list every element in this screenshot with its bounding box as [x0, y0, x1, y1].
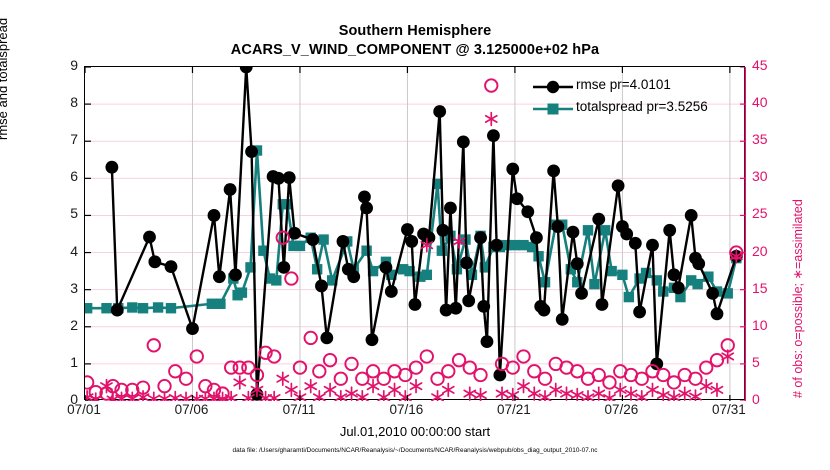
right-tick-0: 0 [752, 391, 782, 407]
right-tick-35: 35 [752, 131, 782, 147]
left-tick-4: 4 [52, 243, 78, 259]
x-tick-07-21: 07/21 [497, 402, 531, 417]
legend-marker-totalspread [531, 98, 575, 120]
left-tick-5: 5 [52, 205, 78, 221]
x-axis-label: Jul.01,2010 00:00:00 start [0, 424, 830, 439]
x-axis-ticks: 07/0107/0607/1107/1607/2107/2607/31 [84, 402, 745, 424]
page-title: Southern Hemisphere ACARS_V_WIND_COMPONE… [0, 22, 830, 60]
x-tick-07-01: 07/01 [67, 402, 101, 417]
title-line-1: Southern Hemisphere [0, 22, 830, 41]
right-axis-ticks: 051015202530354045 [752, 66, 784, 400]
left-tick-3: 3 [52, 280, 78, 296]
right-tick-10: 10 [752, 317, 782, 333]
right-tick-45: 45 [752, 57, 782, 73]
x-tick-07-06: 07/06 [175, 402, 209, 417]
x-tick-07-11: 07/11 [283, 402, 316, 417]
x-tick-07-31: 07/31 [712, 402, 746, 417]
left-axis-label: rmse and totalspread [0, 0, 10, 140]
left-tick-9: 9 [52, 57, 78, 73]
title-line-2: ACARS_V_WIND_COMPONENT @ 3.125000e+02 hP… [0, 41, 830, 60]
left-axis-ticks: 0123456789 [50, 66, 78, 400]
legend-label-rmse: rmse pr=4.0101 [576, 77, 671, 92]
left-tick-6: 6 [52, 168, 78, 184]
right-tick-40: 40 [752, 94, 782, 110]
right-axis-label: # of obs: o=possible; ∗=assimilated [790, 68, 805, 398]
legend-item-totalspread: totalspread pr=3.5256 [531, 98, 743, 120]
legend-item-rmse: rmse pr=4.0101 [531, 76, 743, 98]
right-tick-30: 30 [752, 168, 782, 184]
plot-page: Southern Hemisphere ACARS_V_WIND_COMPONE… [0, 0, 830, 470]
x-tick-07-26: 07/26 [604, 402, 638, 417]
x-tick-07-16: 07/16 [389, 402, 423, 417]
legend-marker-rmse [531, 76, 575, 98]
right-tick-25: 25 [752, 205, 782, 221]
left-tick-1: 1 [52, 354, 78, 370]
right-tick-5: 5 [752, 354, 782, 370]
right-tick-20: 20 [752, 243, 782, 259]
left-tick-8: 8 [52, 94, 78, 110]
left-tick-2: 2 [52, 317, 78, 333]
data-file-note: data file: /Users/gharamti/Documents/NCA… [0, 447, 830, 454]
right-tick-15: 15 [752, 280, 782, 296]
left-tick-7: 7 [52, 131, 78, 147]
legend-label-totalspread: totalspread pr=3.5256 [576, 99, 708, 114]
legend: rmse pr=4.0101 totalspread pr=3.5256 [531, 76, 743, 120]
